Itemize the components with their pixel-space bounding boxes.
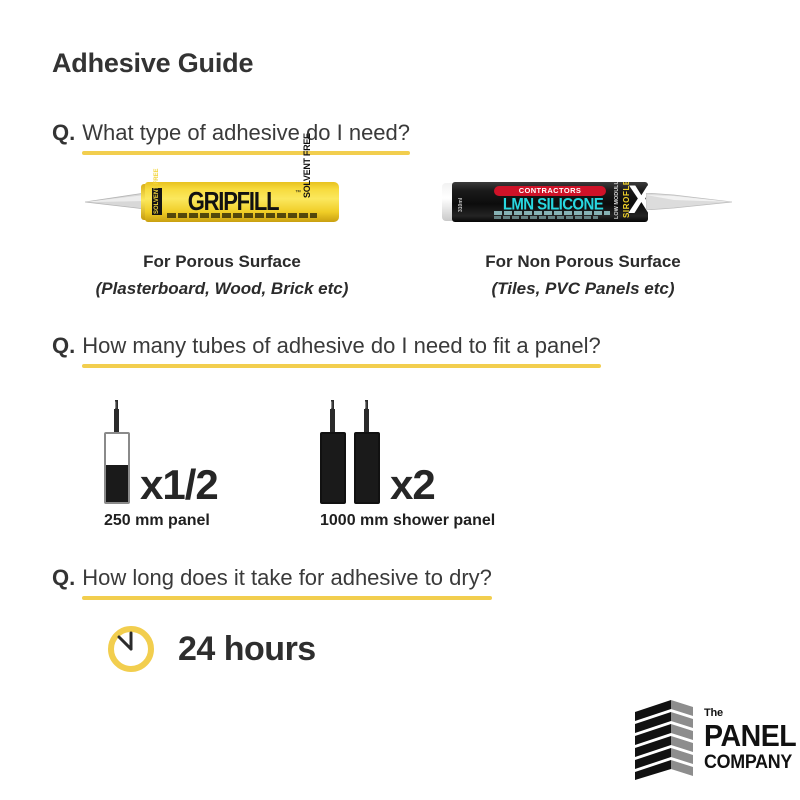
answer-drying-time-text: 24 hours (178, 630, 316, 669)
question-1-text: What type of adhesive do I need? (82, 120, 410, 145)
gripfill-side-band-text: SOLVENT FREE (154, 168, 160, 214)
gripfill-claim-text: SOLVENT FREE (303, 162, 339, 198)
product-non-porous-caption-primary: For Non Porous Surface (418, 252, 748, 272)
tube-nozzle-icon (328, 400, 337, 434)
tube-fill-half (106, 465, 128, 502)
siroflex-vertical-subtitle: LOW MODULUS (614, 182, 620, 219)
panel-block-logo-icon (633, 698, 695, 782)
question-2: Q. How many tubes of adhesive do I need … (52, 333, 601, 368)
quantity-two-label: 1000 mm shower panel (320, 512, 495, 530)
gripfill-trademark-symbol: ™ (295, 190, 301, 196)
question-2-marker: Q. (52, 333, 75, 359)
tube-nozzle-icon (362, 400, 371, 434)
tube-icon-half (104, 400, 130, 504)
question-1-marker: Q. (52, 120, 75, 146)
siroflex-fine-print-line-1 (494, 211, 610, 215)
quantity-group-half-tube: x1/2 250 mm panel (104, 400, 218, 530)
logo-company: COMPANY (704, 753, 798, 772)
question-3-underline (82, 596, 492, 600)
tube-nozzle-icon (112, 400, 121, 434)
quantity-half-row: x1/2 (104, 400, 218, 504)
answer-drying-time: 24 hours (106, 624, 316, 674)
tube-pair (320, 400, 380, 504)
quantity-half-multiplier: x1/2 (140, 466, 218, 504)
siroflex-fine-print-line-2 (494, 216, 598, 219)
tube-icon-full-2 (354, 400, 380, 504)
product-non-porous: 310ml CONTRACTORS LMN SILICONE LOW MODUL… (418, 178, 748, 299)
product-porous-caption-primary: For Porous Surface (57, 252, 387, 272)
question-2-text: How many tubes of adhesive do I need to … (82, 333, 601, 358)
gripfill-side-band: SOLVENT FREE (152, 188, 162, 215)
question-3-text: How long does it take for adhesive to dr… (82, 565, 492, 590)
siroflex-nozzle-icon (646, 193, 732, 210)
quantity-group-two-tubes: x2 1000 mm shower panel (320, 400, 495, 530)
siroflex-x-logo: X (628, 182, 648, 220)
clock-icon (106, 624, 156, 674)
tube-body-half (104, 432, 130, 504)
gripfill-cartridge-image: SOLVENT FREE GRIPFILL ™ SOLVENT FREE (57, 178, 387, 234)
product-porous-caption-secondary: (Plasterboard, Wood, Brick etc) (57, 279, 387, 299)
product-porous: SOLVENT FREE GRIPFILL ™ SOLVENT FREE For… (57, 178, 387, 299)
question-2-underline (82, 364, 601, 368)
tube-icon-full-1 (320, 400, 346, 504)
question-3: Q. How long does it take for adhesive to… (52, 565, 492, 600)
gripfill-body: SOLVENT FREE GRIPFILL ™ SOLVENT FREE (145, 182, 339, 222)
product-non-porous-caption-secondary: (Tiles, PVC Panels etc) (418, 279, 748, 299)
question-1-underline (82, 151, 410, 155)
logo-text-block: The PANEL COMPANY (704, 708, 800, 772)
quantity-half-label: 250 mm panel (104, 512, 218, 530)
logo-panel: PANEL (704, 720, 796, 751)
siroflex-side-band-text: 310ml (458, 198, 464, 212)
tube-body-full-2 (354, 432, 380, 504)
question-3-marker: Q. (52, 565, 75, 591)
quantity-two-multiplier: x2 (390, 466, 435, 504)
question-3-text-wrap: How long does it take for adhesive to dr… (82, 565, 492, 600)
question-1: Q. What type of adhesive do I need? (52, 120, 410, 155)
tube-body-full-1 (320, 432, 346, 504)
question-2-text-wrap: How many tubes of adhesive do I need to … (82, 333, 601, 368)
siroflex-cartridge-image: 310ml CONTRACTORS LMN SILICONE LOW MODUL… (418, 178, 748, 234)
question-1-text-wrap: What type of adhesive do I need? (82, 120, 410, 155)
siroflex-body: 310ml CONTRACTORS LMN SILICONE LOW MODUL… (452, 182, 648, 222)
page-title: Adhesive Guide (52, 48, 253, 79)
company-logo: The PANEL COMPANY (633, 698, 800, 782)
gripfill-fine-print (167, 213, 317, 218)
quantity-two-row: x2 (320, 400, 495, 504)
